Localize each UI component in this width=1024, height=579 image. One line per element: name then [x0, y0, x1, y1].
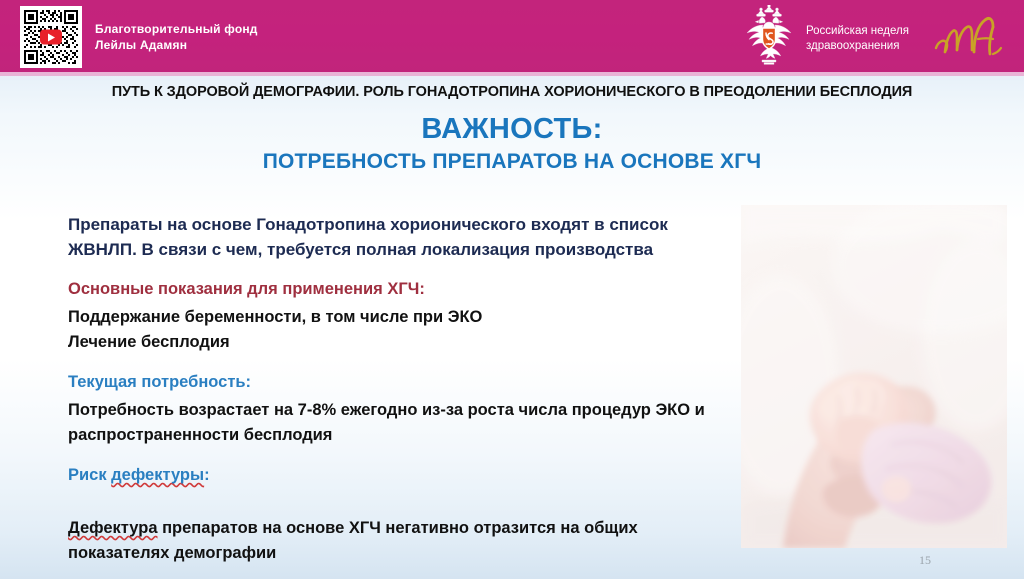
content-column: Препараты на основе Гонадотропина хорион…: [68, 212, 718, 579]
slide-title: ВАЖНОСТЬ:: [0, 113, 1024, 146]
section-body-indications: Поддержание беременности, в том числе пр…: [68, 305, 718, 355]
section-body-current-demand: Потребность возрастает на 7-8% ежегодно …: [68, 398, 718, 448]
heading-prefix: Риск: [68, 466, 111, 484]
heading-suffix: :: [204, 466, 210, 484]
section-heading-indications: Основные показания для применения ХГЧ:: [68, 278, 718, 300]
newborn-hand-photo: [741, 205, 1007, 548]
youtube-play-icon: [40, 30, 62, 45]
presentation-slide: Благотворительный фонд Лейлы Адамян: [0, 0, 1024, 579]
lead-paragraph: Препараты на основе Гонадотропина хорион…: [68, 212, 718, 262]
slide-kicker: ПУТЬ К ЗДОРОВОЙ ДЕМОГРАФИИ. РОЛЬ ГОНАДОТ…: [0, 84, 1024, 100]
slide-subtitle: ПОТРЕБНОСТЬ ПРЕПАРАТОВ НА ОСНОВЕ ХГЧ: [0, 150, 1024, 174]
section-heading-current-demand: Текущая потребность:: [68, 371, 718, 393]
event-name: Российская неделя здравоохранения: [806, 24, 909, 54]
qr-code-youtube-icon[interactable]: [20, 6, 82, 68]
section-body-shortage-risk: Дефектура препаратов на основе ХГЧ негат…: [68, 491, 718, 566]
foundation-name: Благотворительный фонд Лейлы Адамян: [95, 21, 258, 53]
slide-number: 15: [905, 553, 945, 568]
heading-misspelled-word: дефектуры: [111, 466, 204, 484]
gold-monogram-m-icon: [930, 12, 1010, 62]
header-underline: [0, 72, 1024, 76]
russian-ministry-of-health-eagle-emblem: [738, 5, 800, 69]
section-heading-shortage-risk: Риск дефектуры:: [68, 464, 718, 486]
body-misspelled-word: Дефектура: [68, 519, 158, 537]
